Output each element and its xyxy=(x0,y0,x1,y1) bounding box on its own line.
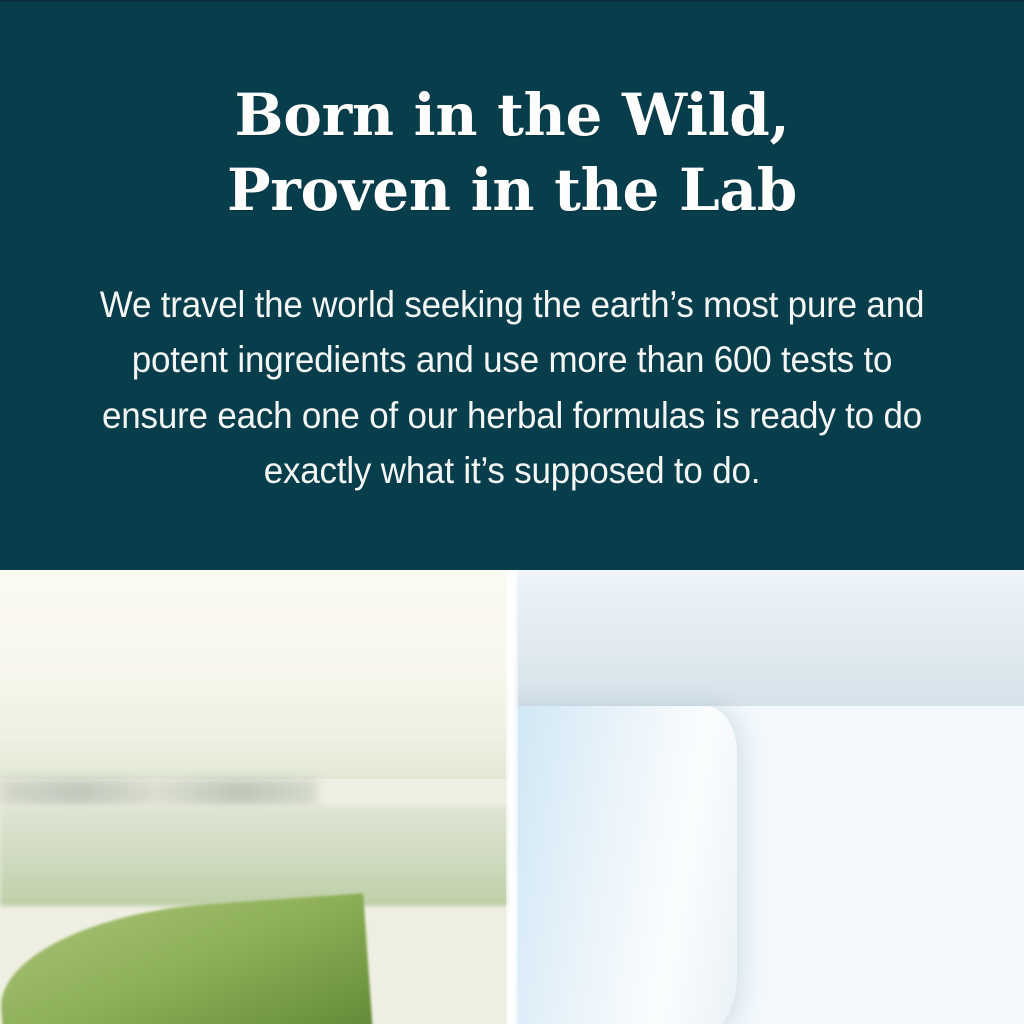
photo-strip xyxy=(0,570,1024,1024)
mid-field xyxy=(0,806,512,906)
tea-scene xyxy=(0,570,512,1024)
tea-harvest-photo xyxy=(0,570,512,1024)
lab-microscope-photo xyxy=(512,570,1024,1024)
body-line-1: We travel the world seeking the earth’s … xyxy=(100,284,924,325)
headline-line-2: Proven in the Lab xyxy=(162,153,862,228)
page-title: Born in the Wild, Proven in the Lab xyxy=(162,78,862,229)
photo-divider xyxy=(506,570,518,1024)
text-panel: Born in the Wild, Proven in the Lab We t… xyxy=(0,0,1024,570)
microscope-body xyxy=(512,706,737,1024)
lab-scene xyxy=(512,570,1024,1024)
sky xyxy=(0,570,512,779)
body-line-2: potent ingredients and use more than 600… xyxy=(132,339,892,380)
body-copy: We travel the world seeking the earth’s … xyxy=(82,277,942,499)
lab-bench xyxy=(512,570,1024,706)
distant-treeline xyxy=(0,779,317,806)
body-line-4: exactly what it’s supposed to do. xyxy=(264,450,761,491)
headline-line-1: Born in the Wild, xyxy=(162,78,862,153)
body-line-3: ensure each one of our herbal formulas i… xyxy=(102,395,922,436)
terraced-hill xyxy=(0,893,374,1024)
brand-promise-card: Born in the Wild, Proven in the Lab We t… xyxy=(0,0,1024,1024)
